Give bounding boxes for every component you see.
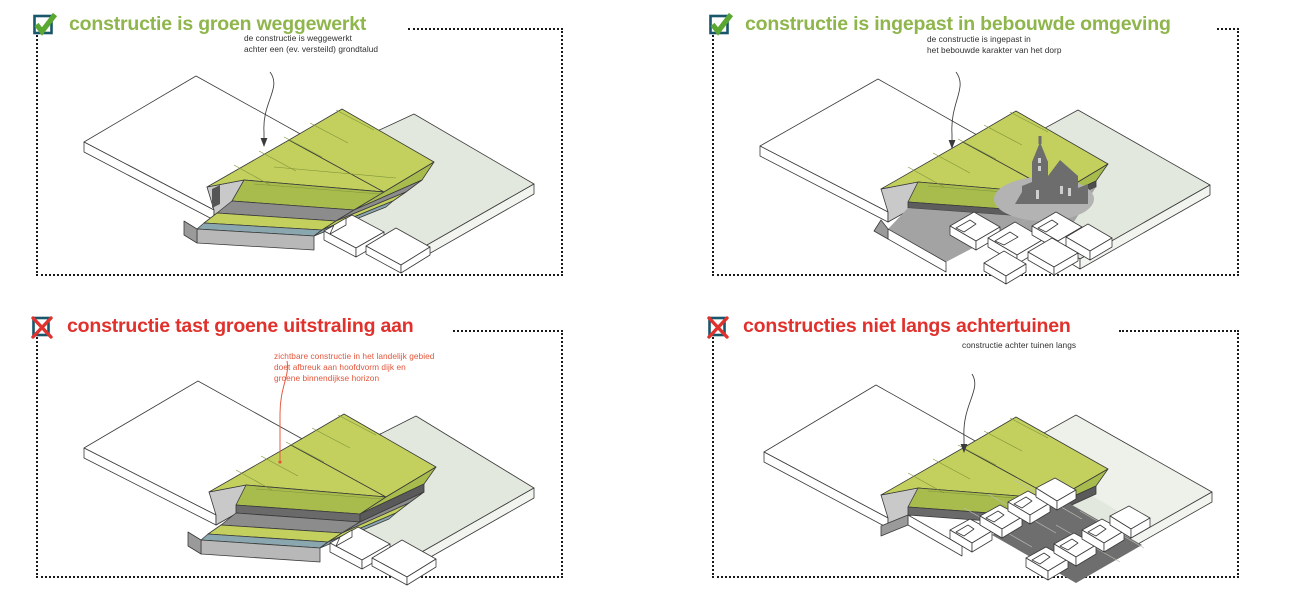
scene-dike-visible-wall bbox=[84, 356, 534, 571]
panel-header: constructie is ingepast in bebouwde omge… bbox=[708, 8, 1178, 42]
panel-niet-langs-achtertuinen: constructies niet langs achtertuinen bbox=[712, 316, 1239, 578]
panel-title: constructie is groen weggewerkt bbox=[60, 15, 373, 35]
panel-title: constructie is ingepast in bebouwde omge… bbox=[736, 15, 1178, 35]
panel-header: constructie tast groene uitstraling aan bbox=[30, 310, 421, 344]
panel-header: constructies niet langs achtertuinen bbox=[706, 310, 1078, 344]
scene-annotation: zichtbare constructie in het landelijk g… bbox=[274, 351, 434, 384]
panel-title: constructie tast groene uitstraling aan bbox=[58, 317, 421, 337]
panel-header: constructie is groen weggewerkt bbox=[32, 8, 373, 42]
panel-tast-groene-uitstraling-aan: constructie tast groene uitstraling aan bbox=[36, 316, 563, 578]
cross-icon bbox=[30, 314, 56, 340]
guidance-sheet: constructie is groen weggewerkt bbox=[0, 0, 1307, 605]
panel-ingepast-bebouwde-omgeving: constructie is ingepast in bebouwde omge… bbox=[712, 14, 1239, 276]
check-icon bbox=[32, 12, 58, 38]
check-icon bbox=[708, 12, 734, 38]
cross-icon bbox=[706, 314, 732, 340]
panel-title: constructies niet langs achtertuinen bbox=[734, 317, 1078, 337]
scene-dike-village-church bbox=[760, 54, 1210, 269]
scene-dike-backyards bbox=[764, 360, 1214, 575]
panel-groen-weggewerkt: constructie is groen weggewerkt bbox=[36, 14, 563, 276]
scene-dike-green-hidden bbox=[84, 54, 534, 269]
